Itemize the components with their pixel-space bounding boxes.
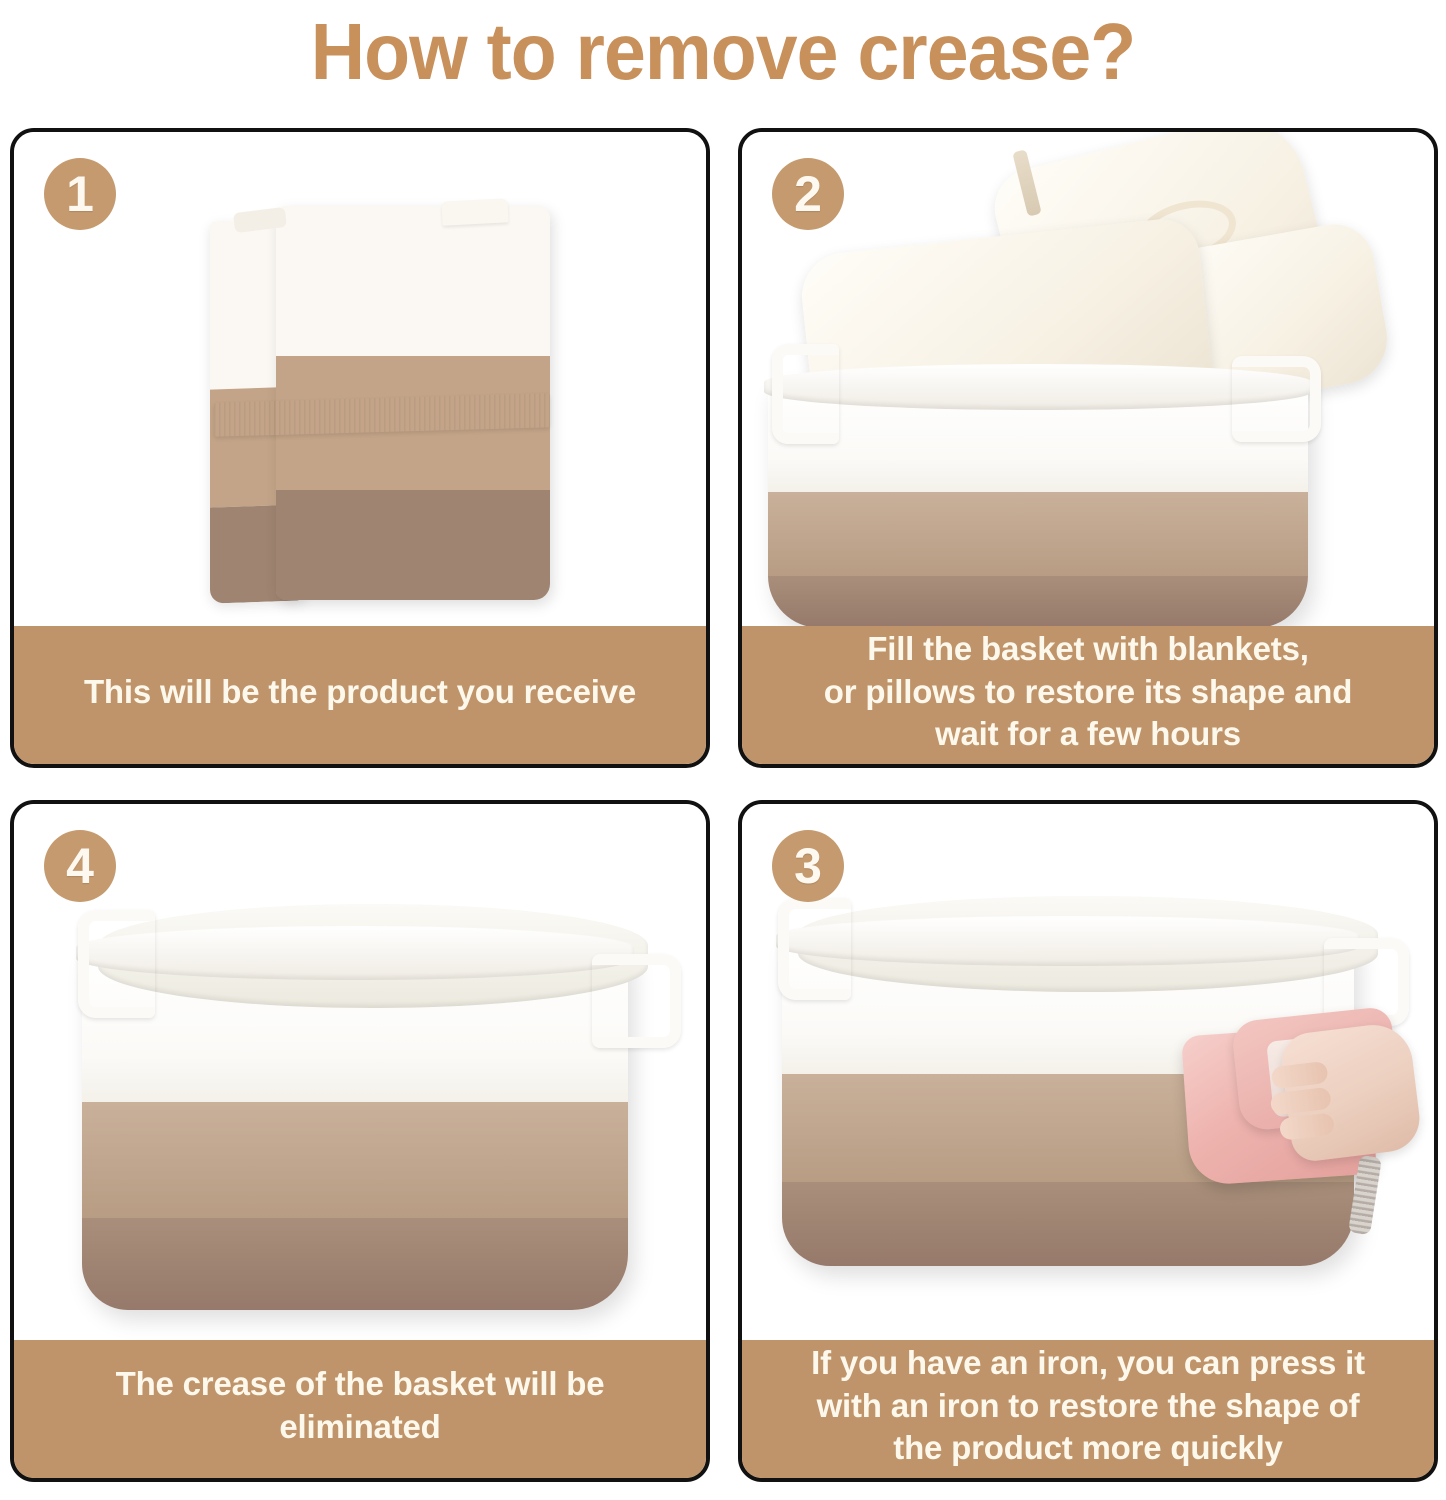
caption-line: This will be the product you receive — [26, 671, 694, 714]
step-1-caption: This will be the product you receive — [12, 626, 708, 766]
basket-handle-left — [772, 344, 839, 444]
ironing-basket-illustration — [772, 896, 1432, 1336]
step-panel-3: 3 — [738, 800, 1438, 1482]
step-badge-2: 2 — [772, 158, 844, 230]
basket-rim — [764, 364, 1312, 410]
basket-band-dark — [82, 1218, 628, 1310]
step-panel-2: 2 — [738, 128, 1438, 768]
caption-line: eliminated — [26, 1406, 694, 1449]
step-1-image: 1 — [14, 132, 706, 634]
band-white — [276, 206, 550, 356]
rope-basket — [768, 380, 1308, 628]
step-3-caption: If you have an iron, you can press it wi… — [740, 1340, 1436, 1480]
caption-line: wait for a few hours — [754, 713, 1422, 756]
band-dark — [276, 490, 550, 600]
basket-handle-left — [78, 910, 155, 1018]
basket-handle-right — [1232, 356, 1321, 442]
step-2-caption: Fill the basket with blankets, or pillow… — [740, 626, 1436, 766]
basket-body — [768, 380, 1308, 628]
caption-line: with an iron to restore the shape of — [754, 1385, 1422, 1428]
step-badge-4: 4 — [44, 830, 116, 902]
basket-front-rim — [76, 926, 634, 980]
step-badge-1: 1 — [44, 158, 116, 230]
basket-handle-left — [778, 898, 851, 1000]
basket-band-mid — [82, 1102, 628, 1218]
step-4-caption: The crease of the basket will be elimina… — [12, 1340, 708, 1480]
caption-line: or pillows to restore its shape and — [754, 671, 1422, 714]
caption-line: If you have an iron, you can press it — [754, 1342, 1422, 1385]
step-badge-3: 3 — [772, 830, 844, 902]
caption-line: The crease of the basket will be — [26, 1363, 694, 1406]
hand — [1279, 1021, 1424, 1164]
steps-grid: 1 This will be the product you receive — [8, 128, 1438, 1488]
fold-tab-front — [441, 198, 508, 225]
filled-basket-illustration — [762, 132, 1422, 632]
basket-handle-right — [592, 954, 681, 1048]
step-4-image: 4 — [14, 804, 706, 1348]
step-2-image: 2 — [742, 132, 1434, 634]
step-panel-1: 1 This will be the product you receive — [10, 128, 710, 768]
page-title: How to remove crease? — [43, 0, 1402, 104]
caption-line: the product more quickly — [754, 1427, 1422, 1470]
basket-band-dark — [768, 576, 1308, 628]
caption-line: Fill the basket with blankets, — [754, 628, 1422, 671]
restored-basket-illustration — [68, 904, 668, 1324]
step-3-image: 3 — [742, 804, 1434, 1348]
folded-basket-illustration — [210, 206, 550, 614]
handheld-iron-illustration — [1178, 1008, 1438, 1238]
basket-band-mid — [768, 492, 1308, 576]
step-panel-4: 4 Th — [10, 800, 710, 1482]
basket-front-rim — [776, 916, 1360, 966]
